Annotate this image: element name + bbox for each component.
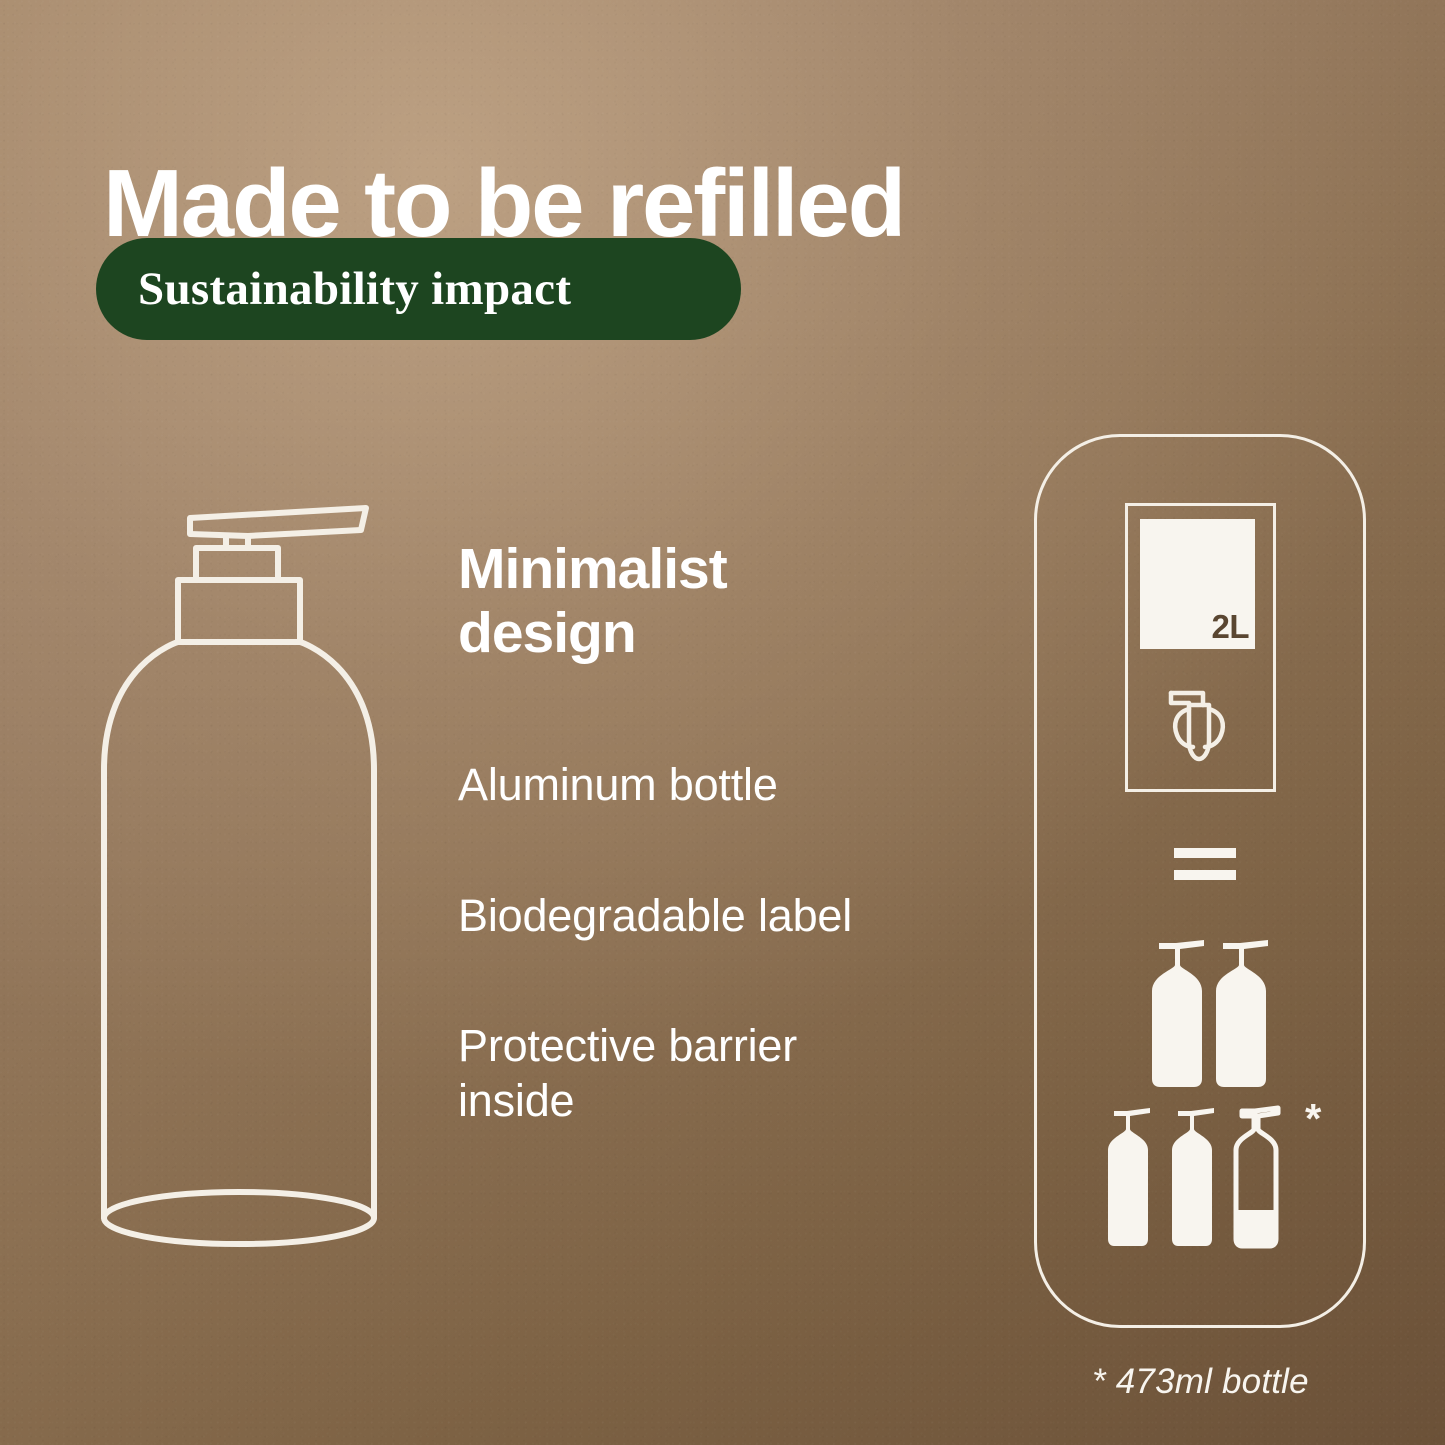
refill-volume-label: 2L [1211, 610, 1255, 649]
feature-item-aluminum-bottle: Aluminum bottle [458, 758, 858, 813]
pump-bottle-outline-icon [78, 470, 418, 1300]
feature-heading: Minimalist design [458, 538, 858, 666]
badge-label: Sustainability impact [96, 262, 571, 316]
large-bottles-icon [1136, 935, 1286, 1095]
asterisk-marker: * [1305, 1098, 1321, 1140]
large-bottle-row [1136, 935, 1286, 1095]
feature-list: Minimalist design Aluminum bottle Biodeg… [458, 538, 858, 1129]
small-bottles-icon [1100, 1105, 1300, 1260]
small-bottle-row [1100, 1105, 1300, 1260]
refill-pouch-icon: 2L [1140, 519, 1255, 649]
equals-bar-bottom [1174, 870, 1236, 880]
feature-item-protective-barrier: Protective barrier inside [458, 1019, 858, 1129]
equals-bar-top [1174, 848, 1236, 858]
handled-bottle-outline-icon [1163, 683, 1235, 765]
footnote-text: * 473ml bottle [1092, 1362, 1309, 1402]
feature-item-biodegradable-label: Biodegradable label [458, 889, 858, 944]
sustainability-infographic: Made to be refilled Sustainability impac… [0, 0, 1445, 1445]
handled-bottle-glyph [1163, 683, 1235, 765]
pump-bottle-illustration [78, 470, 418, 1300]
equals-icon [1174, 848, 1236, 880]
status-badge: Sustainability impact [96, 238, 741, 340]
